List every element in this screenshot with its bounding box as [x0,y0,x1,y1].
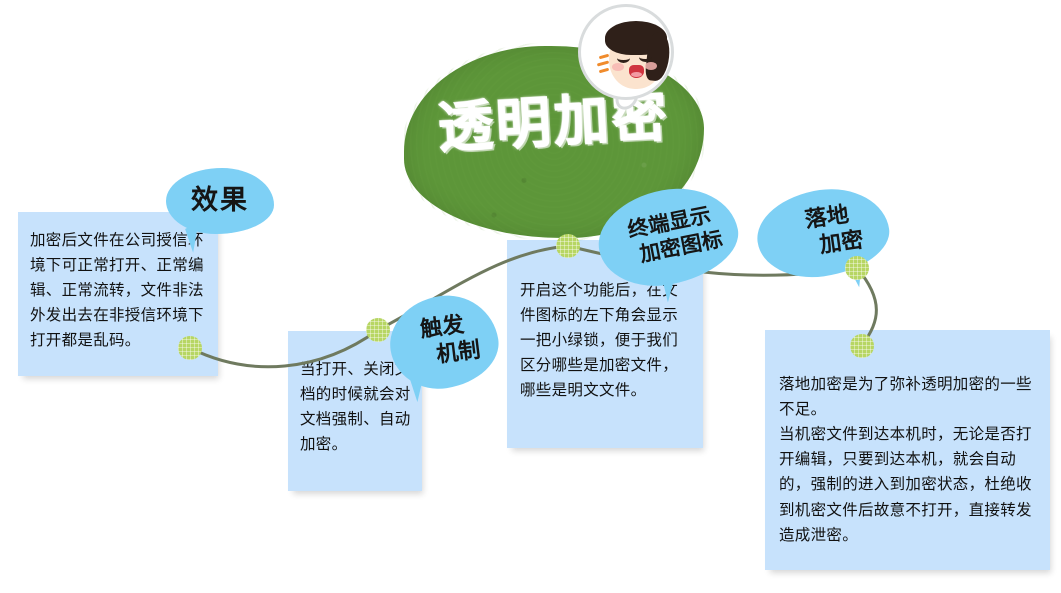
note-card-landing[interactable]: 落地加密是为了弥补透明加密的一些不足。 当机密文件到达本机时，无论是否打开编辑，… [765,330,1050,570]
label-bubble-terminal-lines: 终端显示 加密图标 [613,201,731,272]
avatar-bubble [578,4,674,100]
label-bubble-trigger-lines: 触发 机制 [400,310,488,373]
label-bubble-effect-line1: 效果 [191,185,249,218]
connector-dot-terminal [556,234,580,258]
infographic-canvas: 透明加密 加密后文件在公司授信环境下可正常打开、正常编辑、正常流转，文件非法外发… [0,0,1061,593]
eye-left [617,53,630,63]
note-card-trigger-text: 当打开、关闭文档的时候就会对文档强制、自动加密。 [300,357,412,457]
eye-right [639,52,652,62]
avatar-face [601,21,671,93]
label-bubble-landing[interactable]: 落地 加密 [752,181,895,285]
note-card-landing-paragraph-1: 落地加密是为了弥补透明加密的一些不足。 [779,372,1041,422]
blush-right [645,62,657,70]
connector-dot-effect [178,336,202,360]
note-card-landing-text: 落地加密是为了弥补透明加密的一些不足。 当机密文件到达本机时，无论是否打开编辑，… [779,372,1041,548]
connector-dot-landing-bottom [850,334,874,358]
note-card-landing-paragraph-2: 当机密文件到达本机时，无论是否打开编辑，只要到达本机，就会自动的，强制的进入到加… [779,422,1041,548]
label-bubble-effect[interactable]: 效果 [166,168,274,234]
girl-face-icon [572,2,688,110]
speed-line-icon [597,60,609,66]
speed-line-icon [599,68,609,74]
connector-dot-trigger [366,318,390,342]
connector-dot-landing-top [845,256,869,280]
mouth [629,65,644,78]
speed-line-icon [599,54,609,60]
label-bubble-trigger-line2: 机制 [435,338,482,370]
label-bubble-effect-lines: 效果 [185,185,255,218]
blush-left [612,63,624,71]
